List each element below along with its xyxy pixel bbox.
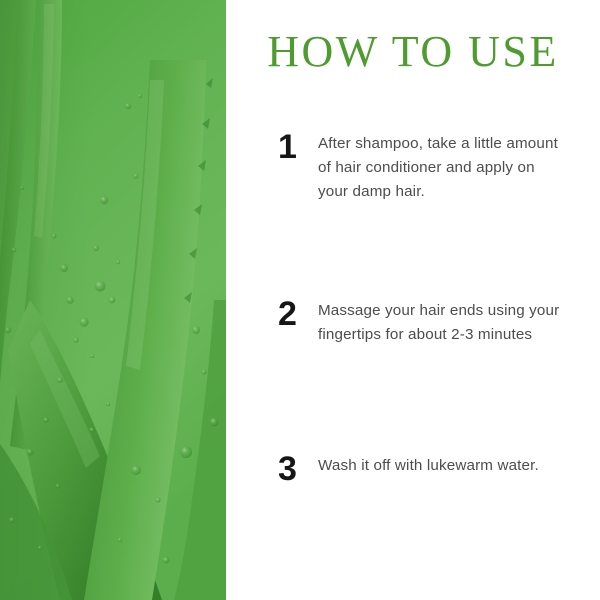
how-to-use-infographic: HOW TO USE 1 After shampoo, take a littl… bbox=[0, 0, 600, 600]
step-text-3: Wash it off with lukewarm water. bbox=[318, 452, 578, 478]
aloe-vera-image-panel bbox=[0, 0, 226, 600]
step-item-3: 3 Wash it off with lukewarm water. bbox=[278, 452, 578, 486]
aloe-vera-photo bbox=[0, 0, 226, 600]
step-item-1: 1 After shampoo, take a little amount of… bbox=[278, 130, 568, 204]
step-number-2: 2 bbox=[278, 297, 318, 331]
step-text-2: Massage your hair ends using your finger… bbox=[318, 297, 568, 347]
content-panel: HOW TO USE 1 After shampoo, take a littl… bbox=[226, 0, 600, 600]
step-number-3: 3 bbox=[278, 452, 318, 486]
step-text-1: After shampoo, take a little amount of h… bbox=[318, 130, 568, 204]
step-number-1: 1 bbox=[278, 130, 318, 164]
step-item-2: 2 Massage your hair ends using your fing… bbox=[278, 297, 568, 347]
steps-list: 1 After shampoo, take a little amount of… bbox=[226, 0, 600, 600]
